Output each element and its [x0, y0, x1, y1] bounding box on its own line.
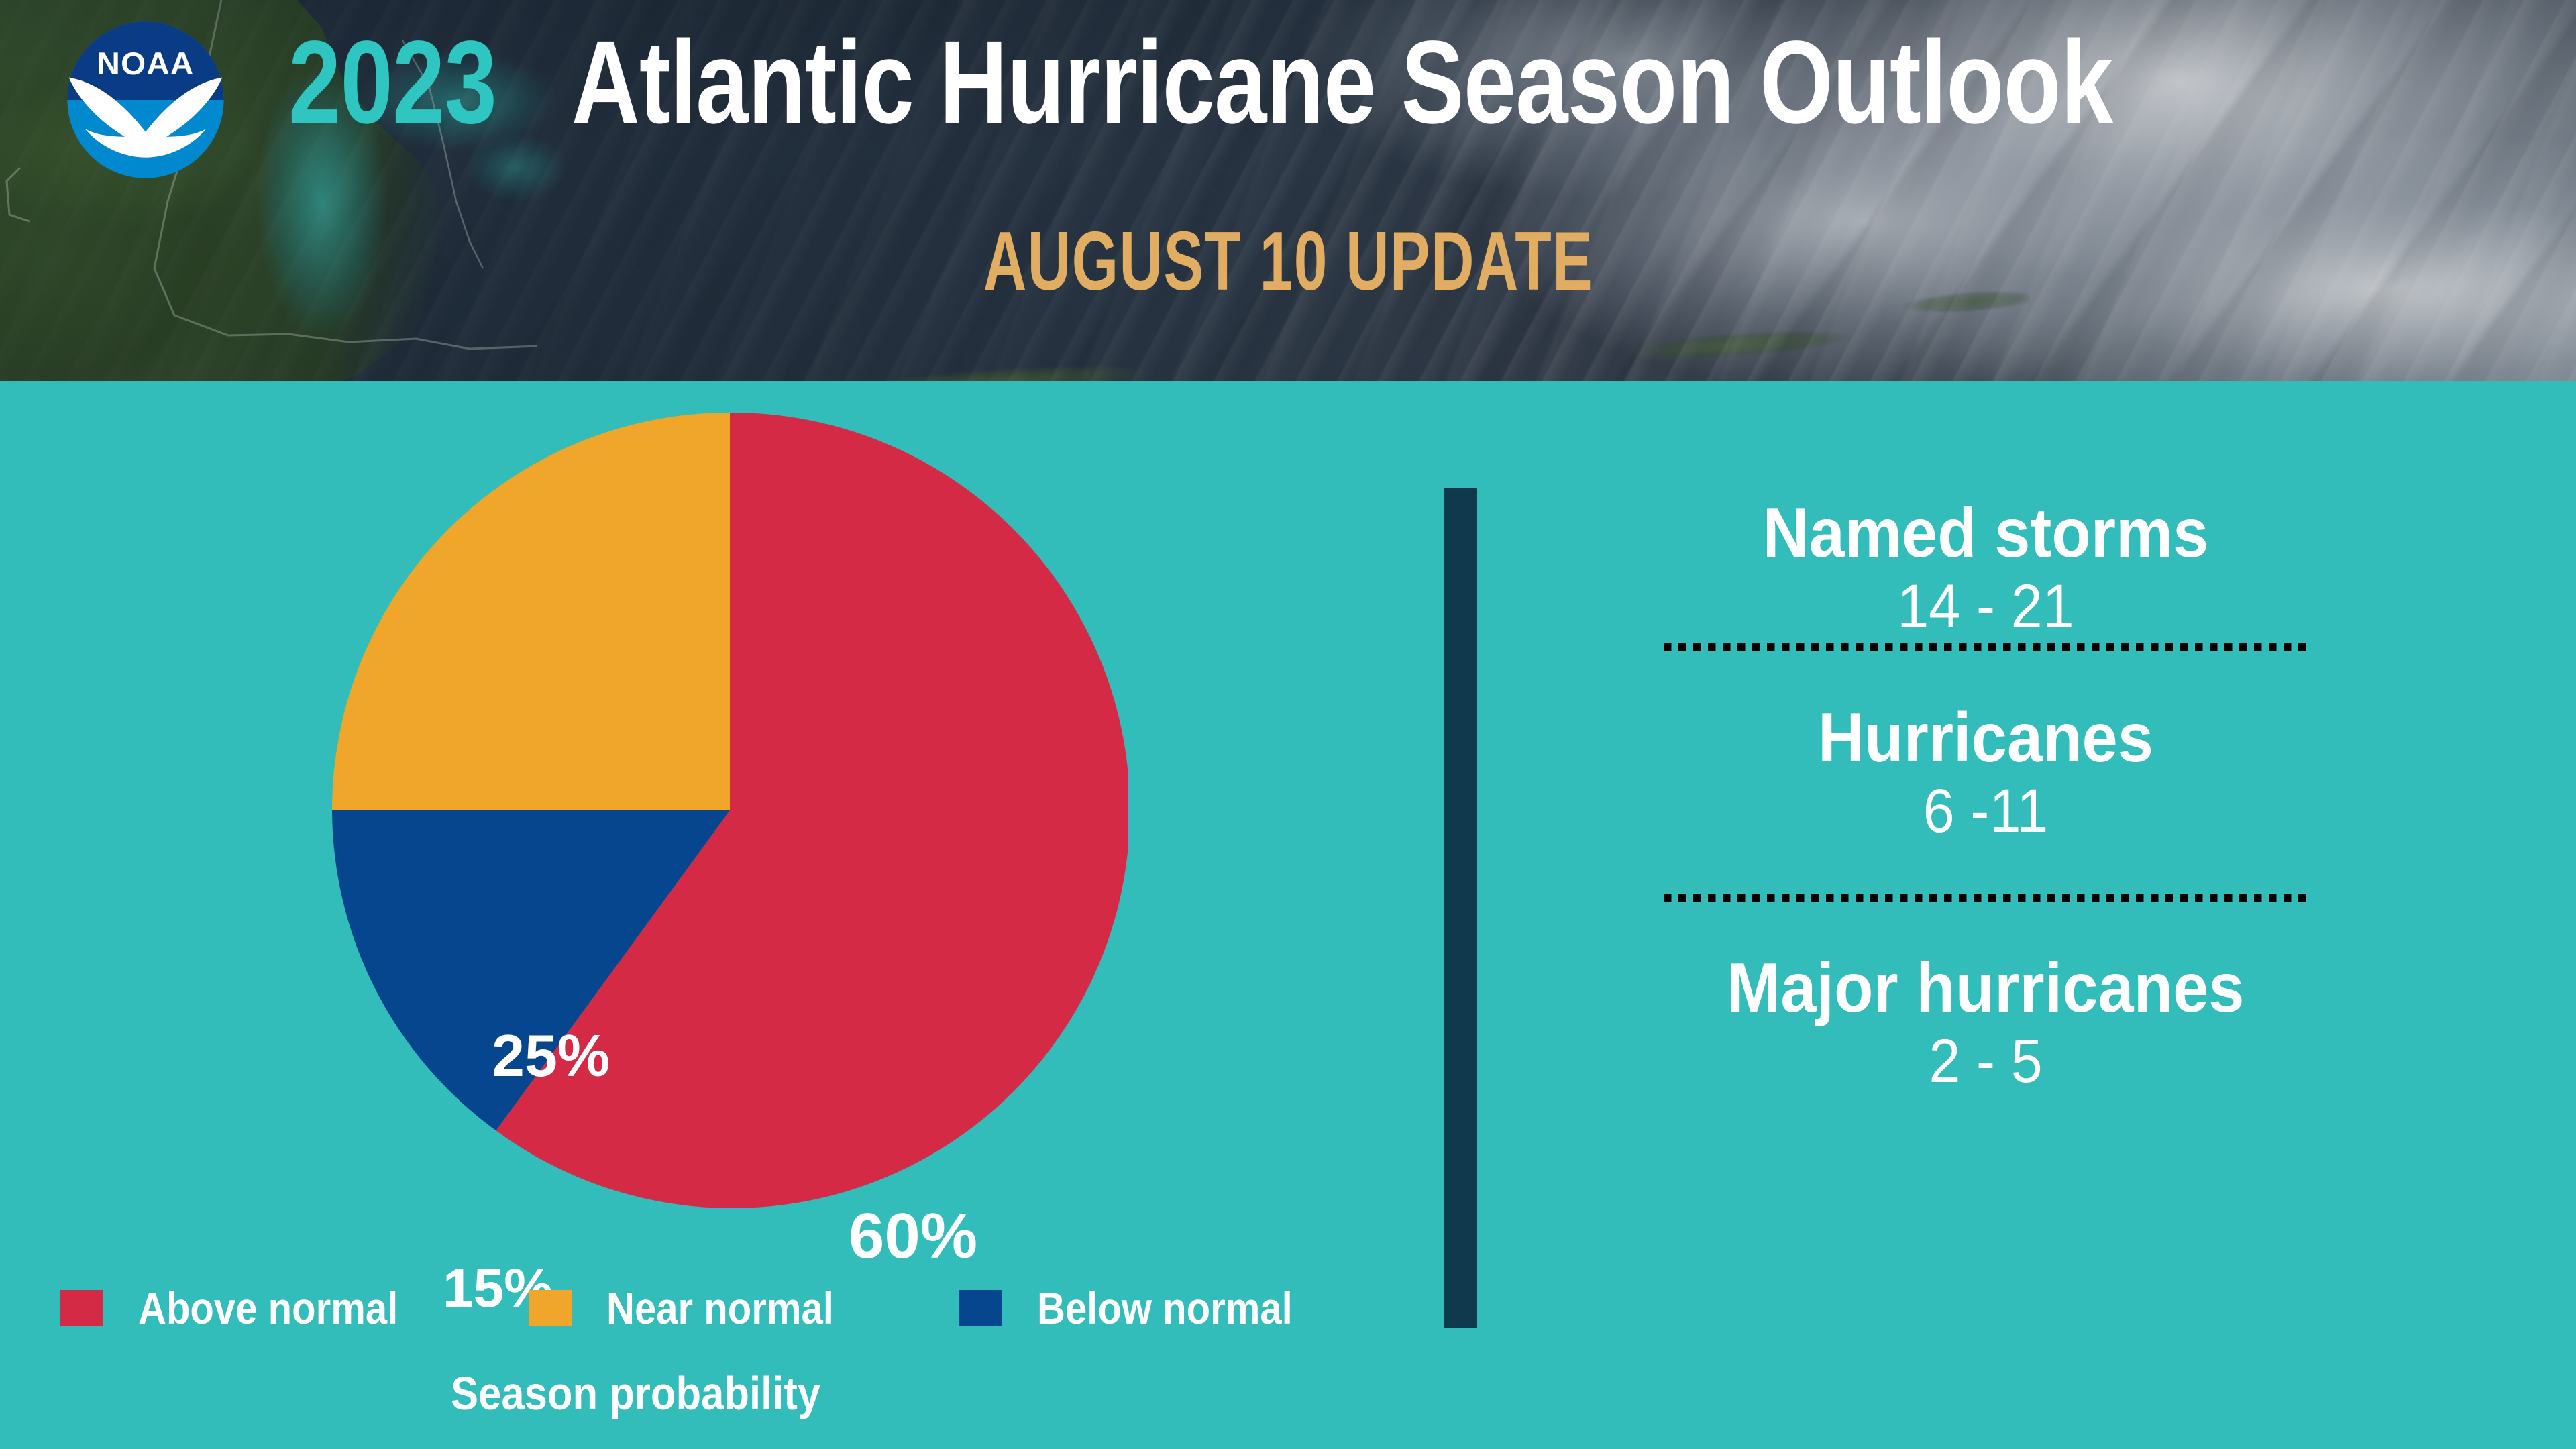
title-year: 2023: [288, 23, 496, 142]
forecast-block-named-storms: Named storms 14 - 21: [1664, 496, 2308, 643]
noaa-logo-text: NOAA: [97, 46, 195, 82]
forecast-value-major-hurricanes: 2 - 5: [1689, 1025, 2282, 1098]
legend-label-below-normal: Below normal: [1037, 1286, 1293, 1330]
legend-item-above-normal[interactable]: Above normal: [60, 1289, 433, 1327]
pie-chart-svg: [332, 413, 1128, 1208]
pie-label-near-normal: 25%: [492, 1026, 610, 1085]
vertical-divider-bar: [1444, 488, 1477, 1328]
season-probability-pie-chart: 60% 25% 15%: [332, 413, 1128, 1208]
page-subtitle: AUGUST 10 UPDATE: [983, 220, 1593, 303]
title-main: Atlantic Hurricane Season Outlook: [572, 23, 2112, 142]
page-title: 2023 Atlantic Hurricane Season Outlook: [288, 19, 2422, 146]
forecast-numbers-panel: Named storms 14 - 21 Hurricanes 6 -11 Ma…: [1664, 496, 2308, 1097]
pie-slice-near-normal[interactable]: [332, 413, 730, 810]
legend-swatch-near-normal: [529, 1290, 572, 1326]
chart-caption-season-probability: Season probability: [451, 1370, 820, 1417]
legend-label-above-normal: Above normal: [138, 1286, 398, 1330]
forecast-title-hurricanes: Hurricanes: [1689, 701, 2282, 775]
forecast-block-major-hurricanes: Major hurricanes 2 - 5: [1664, 951, 2308, 1098]
legend-swatch-below-normal: [959, 1290, 1002, 1326]
forecast-title-named-storms: Named storms: [1689, 496, 2282, 570]
header-banner: NOAA 2023 Atlantic Hurricane Season Outl…: [0, 0, 2576, 381]
chart-legend: Above normal Near normal Below normal: [60, 1289, 1335, 1327]
legend-label-near-normal: Near normal: [606, 1286, 834, 1330]
legend-swatch-above-normal: [60, 1290, 103, 1326]
pie-label-above-normal: 60%: [849, 1204, 977, 1269]
legend-item-near-normal[interactable]: Near normal: [529, 1289, 865, 1327]
legend-item-below-normal[interactable]: Below normal: [959, 1289, 1328, 1327]
noaa-logo-icon: NOAA: [66, 20, 225, 180]
forecast-dashed-divider-2: [1664, 894, 2308, 902]
forecast-block-hurricanes: Hurricanes 6 -11: [1664, 701, 2308, 848]
forecast-title-major-hurricanes: Major hurricanes: [1689, 951, 2282, 1025]
forecast-value-named-storms: 14 - 21: [1689, 570, 2282, 643]
page-subtitle-wrap: AUGUST 10 UPDATE: [0, 220, 2576, 303]
infographic-root: NOAA 2023 Atlantic Hurricane Season Outl…: [0, 0, 2576, 1449]
forecast-dashed-divider-1: [1664, 643, 2308, 651]
forecast-value-hurricanes: 6 -11: [1689, 775, 2282, 848]
